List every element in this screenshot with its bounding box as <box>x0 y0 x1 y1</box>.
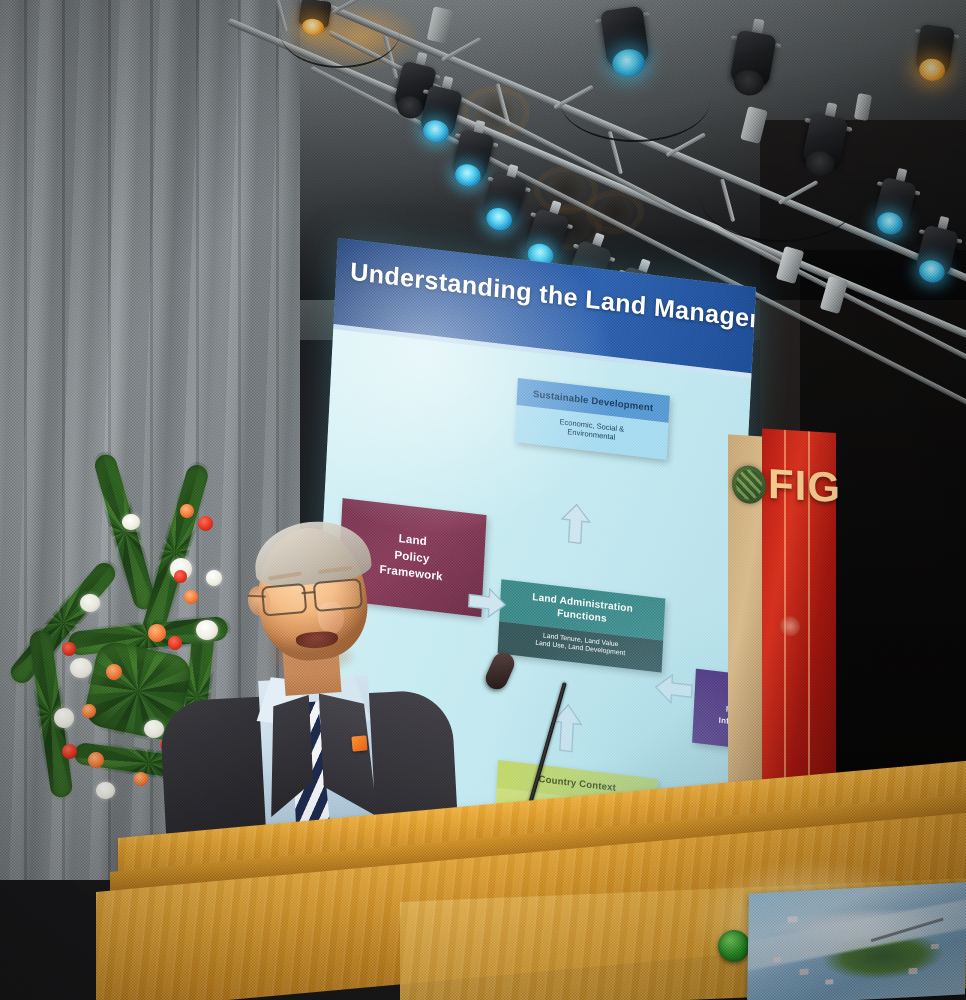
arrow-right-icon <box>467 585 507 619</box>
garland-flower <box>54 708 74 728</box>
garland-flower <box>180 504 194 518</box>
aerial-photo-poster <box>747 882 966 1000</box>
fig-banner-text: FIG <box>768 463 838 509</box>
garland-flower <box>134 772 148 786</box>
garland-flower <box>62 744 77 759</box>
garland-flower <box>122 514 140 530</box>
arrow-left-icon <box>654 672 694 706</box>
lapel-badge <box>351 735 367 751</box>
presentation-photo: Understanding the Land Management Paradi… <box>0 0 966 1000</box>
arrow-up-icon <box>560 502 592 546</box>
garland-flower <box>148 624 166 642</box>
glasses-lens-right <box>313 578 363 612</box>
chin-shadow <box>272 644 352 670</box>
stage-light <box>600 6 650 69</box>
banner-seal-icon <box>780 616 800 637</box>
garland-flower <box>88 752 104 768</box>
garland-flower <box>96 782 115 799</box>
fig-banner: FIG <box>728 434 846 831</box>
garland-flower <box>70 658 92 678</box>
garland-flower <box>82 704 96 718</box>
glasses-lens-left <box>261 583 307 617</box>
garland-flower <box>144 720 164 738</box>
poster-river <box>747 892 966 975</box>
stage-light <box>915 24 955 74</box>
garland-flower <box>106 664 122 680</box>
garland-flower <box>62 642 76 656</box>
green-button[interactable] <box>718 930 750 962</box>
garland-flower <box>80 594 100 612</box>
stage-light <box>298 0 331 28</box>
